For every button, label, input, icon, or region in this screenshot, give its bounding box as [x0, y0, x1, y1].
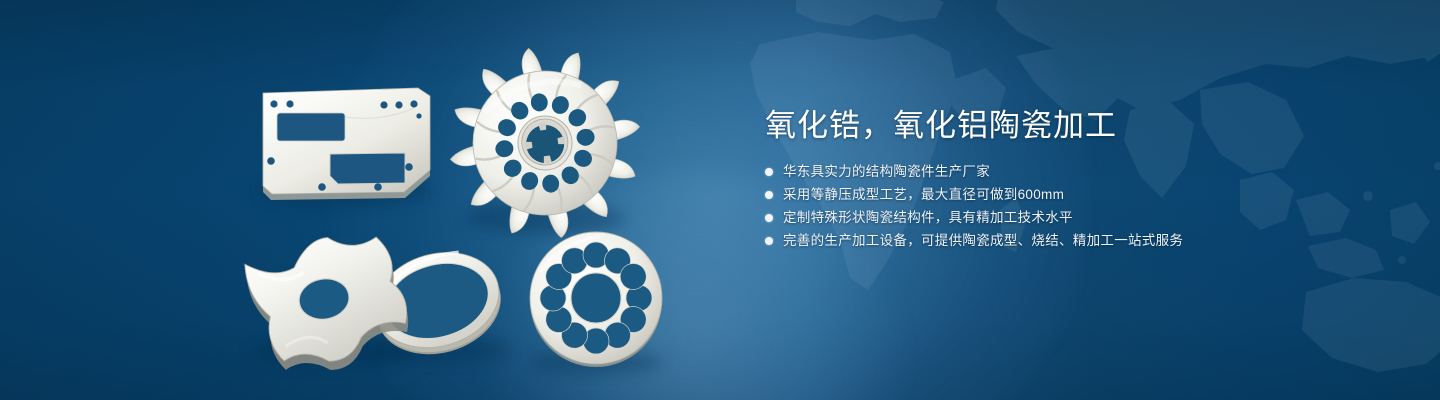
list-item-label: 完善的生产加工设备，可提供陶瓷成型、烧结、精加工一站式服务	[783, 229, 1183, 252]
banner-copy: 氧化锆，氧化铝陶瓷加工 华东具实力的结构陶瓷件生产厂家 采用等静压成型工艺，最大…	[765, 104, 1385, 252]
list-item: 华东具实力的结构陶瓷件生产厂家	[765, 160, 1385, 183]
bullet-dot-icon	[765, 168, 773, 176]
hero-banner: 氧化锆，氧化铝陶瓷加工 华东具实力的结构陶瓷件生产厂家 采用等静压成型工艺，最大…	[0, 0, 1440, 400]
list-item: 定制特殊形状陶瓷结构件，具有精加工技术水平	[765, 206, 1385, 229]
list-item: 完善的生产加工设备，可提供陶瓷成型、烧结、精加工一站式服务	[765, 229, 1385, 252]
product-photo-cluster	[0, 0, 720, 400]
bullet-dot-icon	[765, 191, 773, 199]
list-item-label: 华东具实力的结构陶瓷件生产厂家	[783, 160, 990, 183]
feature-list: 华东具实力的结构陶瓷件生产厂家 采用等静压成型工艺，最大直径可做到600mm 定…	[765, 160, 1385, 252]
bullet-dot-icon	[765, 237, 773, 245]
list-item-label: 采用等静压成型工艺，最大直径可做到600mm	[783, 183, 1064, 206]
ceramic-perforated-disc-photo	[530, 232, 662, 367]
ceramic-plate-photo	[263, 88, 430, 200]
page-title: 氧化锆，氧化铝陶瓷加工	[765, 104, 1385, 148]
list-item: 采用等静压成型工艺，最大直径可做到600mm	[765, 183, 1385, 206]
bullet-dot-icon	[765, 214, 773, 222]
list-item-label: 定制特殊形状陶瓷结构件，具有精加工技术水平	[783, 206, 1073, 229]
